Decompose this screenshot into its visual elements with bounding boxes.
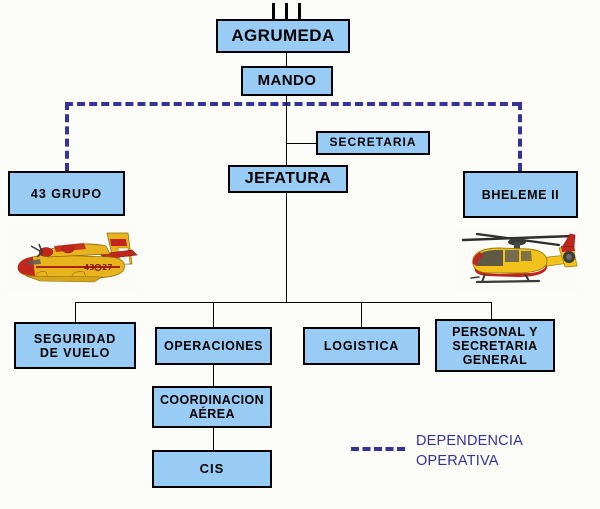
node-cis[interactable]: CIS <box>152 450 272 488</box>
node-operaciones-label: OPERACIONES <box>161 339 266 353</box>
node-jefatura-label: JEFATURA <box>242 170 334 188</box>
node-coordinacion-aerea[interactable]: COORDINACION AÉREA <box>152 386 272 428</box>
node-43-grupo-label: 43 GRUPO <box>28 187 105 201</box>
node-43-grupo[interactable]: 43 GRUPO <box>8 171 125 216</box>
connector-agrumeda-mando <box>286 53 287 66</box>
connector-coordinacion-cis <box>213 428 214 450</box>
node-bheleme-ii[interactable]: BHELEME II <box>463 171 578 218</box>
org-chart-canvas: AGRUMEDA MANDO SECRETARIA JEFATURA 43 GR… <box>0 0 600 509</box>
antenna-mark-icon <box>298 3 301 20</box>
node-jefatura[interactable]: JEFATURA <box>228 165 348 193</box>
legend-label: DEPENDENCIA OPERATIVA <box>416 432 591 471</box>
connector-jefatura-bus <box>286 193 287 302</box>
ec135-helicopter-icon <box>455 228 581 292</box>
antenna-mark-icon <box>285 3 288 20</box>
node-seguridad-line1: SEGURIDAD <box>31 332 119 346</box>
canadair-cl215-seaplane-icon: 43 27 <box>6 224 142 294</box>
connector-spine-secretaria <box>286 143 316 144</box>
node-operaciones[interactable]: OPERACIONES <box>155 327 272 365</box>
connector-operaciones-coordinacion <box>213 365 214 386</box>
dependency-line-to-bheleme <box>518 102 522 171</box>
node-secretaria-label: SECRETARIA <box>326 136 419 149</box>
connector-bus-personal <box>491 302 492 319</box>
node-cis-label: CIS <box>197 462 228 477</box>
connector-bus-operaciones <box>213 302 214 327</box>
legend-line-1: DEPENDENCIA <box>416 432 591 452</box>
legend-line-2: OPERATIVA <box>416 452 591 472</box>
node-agrumeda-label: AGRUMEDA <box>228 26 337 45</box>
node-logistica[interactable]: LOGISTICA <box>303 327 420 365</box>
node-personal-line2: SECRETARIA <box>449 339 541 353</box>
node-seguridad-de-vuelo[interactable]: SEGURIDAD DE VUELO <box>14 322 136 369</box>
dependency-line-horizontal <box>65 102 520 106</box>
legend-dashed-swatch-icon <box>351 447 405 451</box>
connector-bus-horizontal <box>75 302 491 303</box>
node-coordinacion-line2: AÉREA <box>157 407 267 421</box>
connector-mando-jefatura <box>286 96 287 165</box>
node-personal-line3: GENERAL <box>449 353 541 367</box>
connector-bus-seguridad <box>75 302 76 322</box>
node-agrumeda[interactable]: AGRUMEDA <box>216 19 350 53</box>
node-bheleme-ii-label: BHELEME II <box>479 188 563 202</box>
node-secretaria[interactable]: SECRETARIA <box>316 131 430 155</box>
node-personal-y-secretaria-general[interactable]: PERSONAL Y SECRETARIA GENERAL <box>435 319 555 372</box>
svg-text:27: 27 <box>102 263 112 272</box>
node-logistica-label: LOGISTICA <box>321 339 402 353</box>
node-personal-line1: PERSONAL Y <box>449 325 541 339</box>
dependency-line-to-grupo43 <box>65 102 69 171</box>
node-seguridad-line2: DE VUELO <box>31 346 119 360</box>
antenna-mark-icon <box>272 3 275 20</box>
node-mando-label: MANDO <box>255 73 320 90</box>
svg-text:43: 43 <box>84 263 94 272</box>
connector-bus-logistica <box>361 302 362 327</box>
node-coordinacion-line1: COORDINACION <box>157 393 267 407</box>
node-mando[interactable]: MANDO <box>241 66 333 96</box>
